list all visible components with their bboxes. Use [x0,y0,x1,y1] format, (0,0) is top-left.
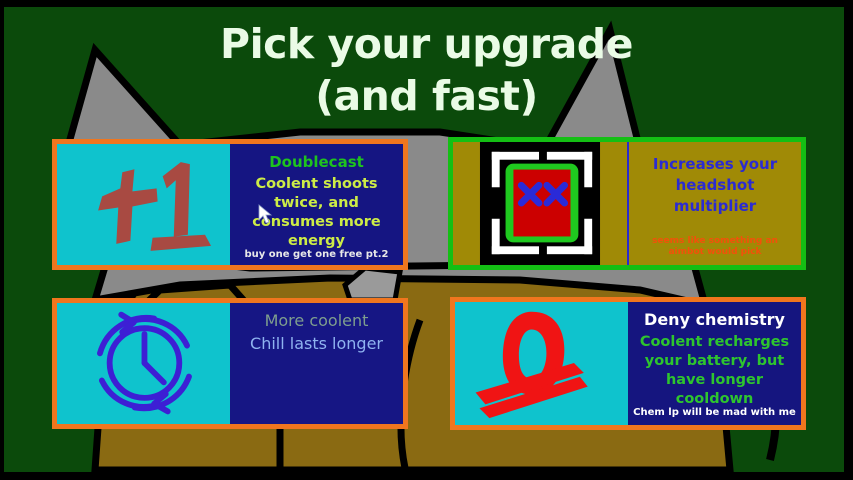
upgrade-text-pane: More coolent Chill lasts longer [230,303,403,424]
page-title-line2: (and fast) [0,70,853,122]
letterbox-right [844,0,853,480]
page-title-line1: Pick your upgrade [220,20,633,68]
upgrade-card-doublecast[interactable]: Doublecast Coolent shoots twice, and con… [52,139,408,270]
upgrade-card-headshot[interactable]: Increases your headshot multiplier seems… [448,137,806,270]
clock-refresh-icon [57,303,230,424]
arrow-pointer-icon [258,204,274,224]
upgrade-icon-pane [455,302,628,425]
plus-one-icon [57,144,230,265]
letterbox-left [0,0,4,480]
upgrade-description: Increases your headshot multiplier [635,154,795,217]
upgrade-card-more-coolent[interactable]: More coolent Chill lasts longer [52,298,408,429]
game-screen: Pick your upgrade (and fast) Doublecast … [0,0,853,480]
upgrade-text-pane: Increases your headshot multiplier seems… [627,142,801,265]
upgrade-icon-pane [57,144,230,265]
upgrade-footer-note: buy one get one free pt.2 [234,249,399,261]
letterbox-bottom [0,472,853,480]
upgrade-footer-note: Chem lp will be mad with me [632,407,797,419]
letterbox-top [0,0,853,7]
upgrade-title: More coolent [265,312,369,330]
upgrade-title: Doublecast [269,153,364,171]
upgrade-icon-pane [57,303,230,424]
upgrade-footer-note: seems like something an aimbot would pic… [633,236,797,258]
upgrade-icon-pane [453,142,627,265]
crosshair-dead-eyes-icon [453,142,627,265]
upgrade-title: Deny chemistry [644,311,785,329]
page-title: Pick your upgrade (and fast) [0,18,853,122]
upgrade-card-deny-chemistry[interactable]: Deny chemistry Coolent recharges your ba… [450,297,806,430]
upgrade-text-pane: Doublecast Coolent shoots twice, and con… [230,144,403,265]
upgrade-text-pane: Deny chemistry Coolent recharges your ba… [628,302,801,425]
upgrade-description: Coolent recharges your battery, but have… [634,333,795,409]
upgrade-description: Chill lasts longer [250,334,383,353]
zero-strike-icon [455,302,628,425]
